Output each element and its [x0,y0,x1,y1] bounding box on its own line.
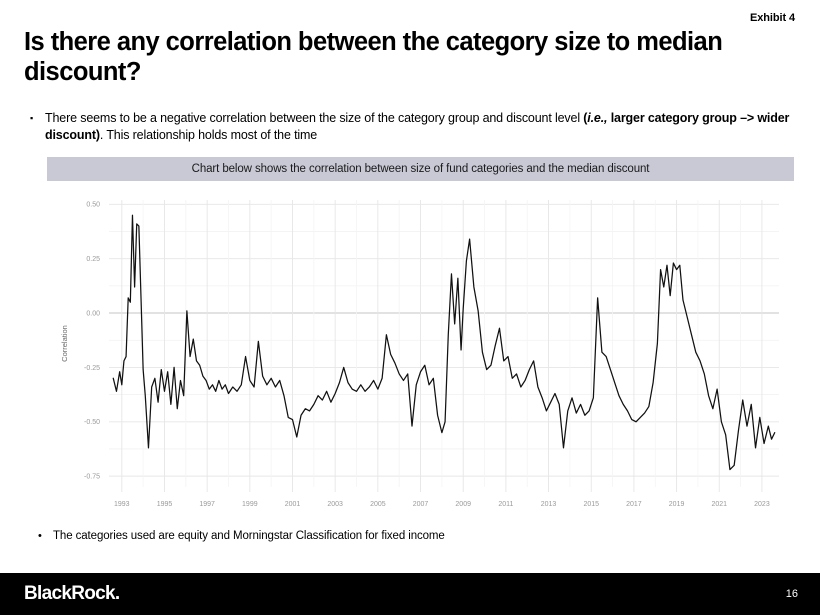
footer-bar: BlackRock. 16 [0,573,820,615]
svg-text:2023: 2023 [754,501,770,508]
svg-text:2011: 2011 [498,501,513,508]
chart-banner: Chart below shows the correlation betwee… [47,157,794,181]
correlation-line [113,215,774,469]
dot-bullet-icon: • [38,528,53,544]
svg-text:1993: 1993 [114,501,130,508]
svg-text:1997: 1997 [199,501,215,508]
svg-text:2005: 2005 [370,501,386,508]
brand-dot: . [115,583,120,604]
svg-text:0.00: 0.00 [86,310,100,317]
blackrock-logo: BlackRock. [24,583,119,605]
brand-name: BlackRock [24,583,115,604]
svg-text:2007: 2007 [413,501,429,508]
list-item: ▪ There seems to be a negative correlati… [30,110,790,144]
svg-text:2019: 2019 [669,501,685,508]
page-number: 16 [786,588,798,600]
svg-text:-0.25: -0.25 [84,365,100,372]
svg-text:-0.50: -0.50 [84,419,100,426]
page-title: Is there any correlation between the cat… [24,27,794,87]
svg-text:0.50: 0.50 [86,202,100,209]
chart-canvas: 0.500.250.00-0.25-0.50-0.751993199519971… [47,186,794,516]
svg-text:1999: 1999 [242,501,258,508]
svg-text:-0.75: -0.75 [84,474,100,481]
square-bullet-icon: ▪ [30,110,45,127]
y-axis-title: Correlation [60,325,69,362]
svg-text:0.25: 0.25 [86,256,100,263]
footnote-text: The categories used are equity and Morni… [53,528,445,544]
svg-text:2021: 2021 [711,501,727,508]
svg-text:2017: 2017 [626,501,642,508]
correlation-chart: 0.500.250.00-0.25-0.50-0.751993199519971… [47,186,794,516]
svg-text:1995: 1995 [157,501,173,508]
bullet-text: There seems to be a negative correlation… [45,110,790,144]
exhibit-label: Exhibit 4 [750,12,795,24]
bullet-list: ▪ There seems to be a negative correlati… [30,110,790,144]
svg-text:2001: 2001 [285,501,301,508]
slide-root: Exhibit 4 Is there any correlation betwe… [0,0,820,615]
footnote: • The categories used are equity and Mor… [38,528,778,544]
svg-text:2015: 2015 [583,501,599,508]
svg-text:2009: 2009 [455,501,471,508]
svg-text:2013: 2013 [541,501,557,508]
svg-text:2003: 2003 [327,501,343,508]
